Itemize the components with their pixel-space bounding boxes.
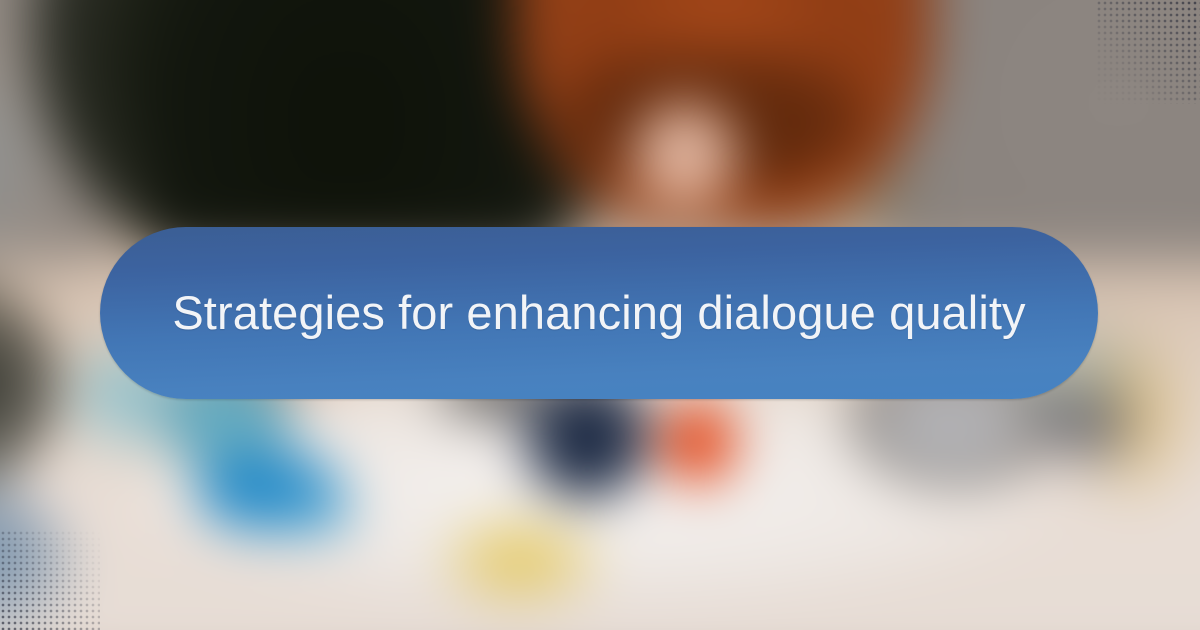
paint-blob-red	[658, 400, 738, 485]
person-hands	[630, 100, 740, 210]
halftone-dots-bottom-left	[0, 530, 100, 630]
paint-blob-blue-2	[270, 485, 360, 540]
headline-pill: Strategies for enhancing dialogue qualit…	[100, 227, 1098, 399]
banner-canvas: Strategies for enhancing dialogue qualit…	[0, 0, 1200, 630]
page-title: Strategies for enhancing dialogue qualit…	[112, 285, 1085, 340]
halftone-dots-top-right	[1096, 0, 1200, 104]
paint-blob-yellow	[440, 515, 600, 605]
